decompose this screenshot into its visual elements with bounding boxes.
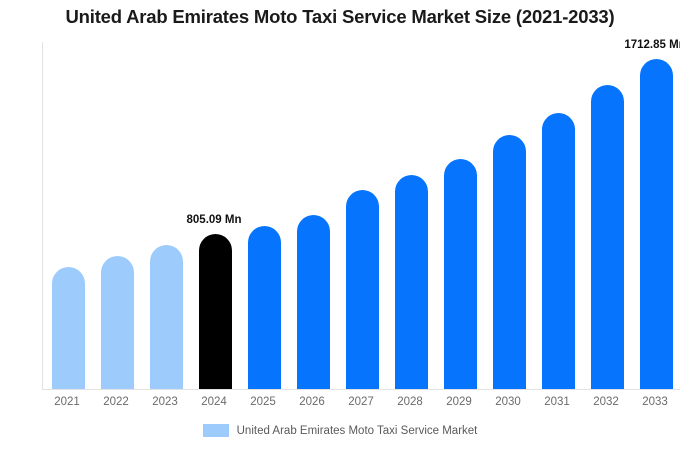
bar-2021[interactable] (52, 267, 85, 389)
bar-2025[interactable] (248, 226, 281, 389)
data-label-2024: 805.09 Mn (187, 214, 242, 226)
bar-2028[interactable] (395, 175, 428, 389)
legend-swatch-icon (203, 424, 229, 437)
bar-2024[interactable] (199, 234, 232, 389)
bar-2027[interactable] (346, 190, 379, 389)
bar-2022[interactable] (101, 256, 134, 389)
data-label-2033: 1712.85 Mn (624, 39, 680, 51)
bar-2026[interactable] (297, 215, 330, 389)
chart-title: United Arab Emirates Moto Taxi Service M… (0, 6, 680, 28)
bar-2031[interactable] (542, 113, 575, 389)
chart-legend: United Arab Emirates Moto Taxi Service M… (0, 424, 680, 437)
bar-2032[interactable] (591, 85, 624, 389)
bar-2030[interactable] (493, 135, 526, 389)
legend-item-label: United Arab Emirates Moto Taxi Service M… (237, 425, 478, 437)
x-axis-tick-label: 2033 (625, 396, 680, 408)
bar-2023[interactable] (150, 245, 183, 389)
bar-2029[interactable] (444, 159, 477, 389)
plot-area (42, 42, 680, 390)
bar-chart: United Arab Emirates Moto Taxi Service M… (0, 0, 680, 450)
bar-2033[interactable] (640, 59, 673, 389)
